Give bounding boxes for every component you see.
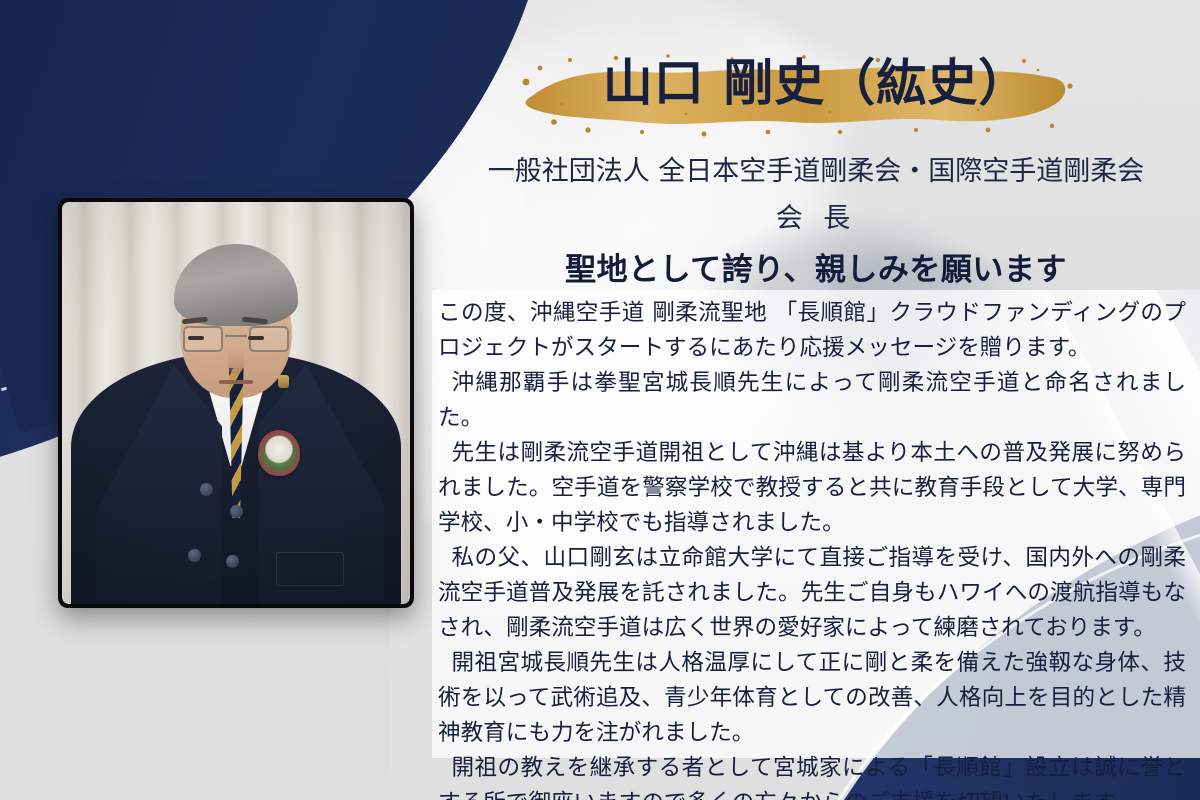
message-paragraph: 私の父、山口剛玄は立命館大学にて直接ご指導を受け、国内外への剛柔流空手道普及発展… — [438, 541, 1186, 646]
page-title: 山口 剛史（紘史） — [432, 54, 1200, 113]
message-body: この度、沖縄空手道 剛柔流聖地 「長順館」クラウドファンディングのプロジェクトが… — [432, 290, 1200, 760]
portrait-photo-frame — [58, 198, 414, 608]
message-paragraph: 開祖の教えを継承する者として宮城家による「長順館」設立は誠に誉とする所で御座いま… — [438, 751, 1186, 800]
photo-vignette — [62, 202, 410, 604]
portrait-photo — [62, 202, 410, 604]
role-label: 会 長 — [432, 196, 1200, 235]
message-paragraph: 沖縄那覇手は拳聖宮城長順先生によって剛柔流空手道と命名されました。 — [438, 366, 1186, 436]
message-paragraph: この度、沖縄空手道 剛柔流聖地 「長順館」クラウドファンディングのプロジェクトが… — [438, 296, 1186, 366]
slide-canvas: 山口 剛史（紘史） 一般社団法人 全日本空手道剛柔会・国際空手道剛柔会 会 長 … — [0, 0, 1200, 800]
message-paragraph: 開祖宮城長順先生は人格温厚にして正に剛と柔を備えた強靱な身体、技術を以って武術追… — [438, 646, 1186, 751]
organization-line: 一般社団法人 全日本空手道剛柔会・国際空手道剛柔会 — [432, 156, 1200, 189]
content-column: 山口 剛史（紘史） 一般社団法人 全日本空手道剛柔会・国際空手道剛柔会 会 長 … — [432, 0, 1200, 800]
message-headline: 聖地として誇り、親しみを願います — [432, 244, 1200, 289]
message-paragraph: 先生は剛柔流空手道開祖として沖縄は基より本土への普及発展に努められました。空手道… — [438, 436, 1186, 541]
